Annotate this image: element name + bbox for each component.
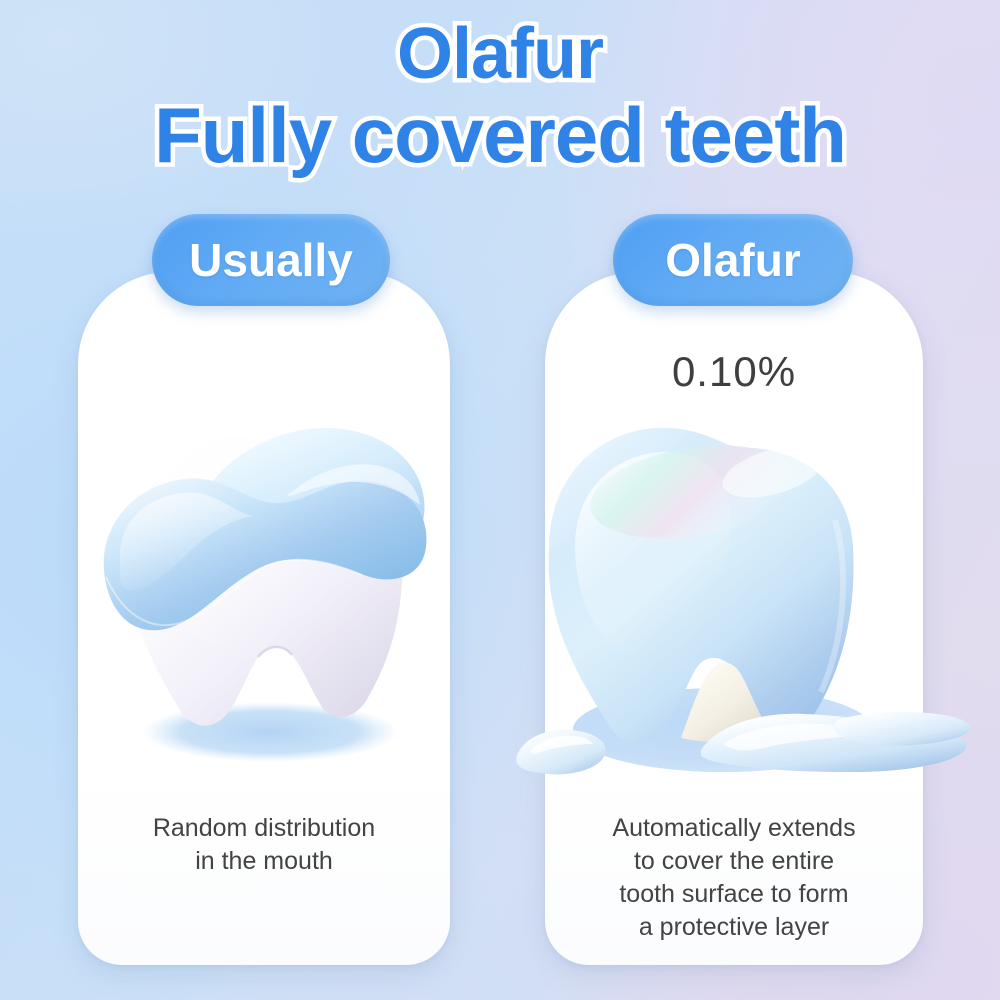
caption-usually: Random distribution in the mouth [78, 812, 450, 878]
badge-olafur-label: Olafur [665, 233, 800, 287]
caption-olafur-line-1: Automatically extends [545, 812, 923, 845]
poster-canvas: Olafur Fully covered teeth [0, 0, 1000, 1000]
caption-usually-line-1: Random distribution [78, 812, 450, 845]
caption-usually-line-2: in the mouth [78, 845, 450, 878]
caption-olafur-line-3: tooth surface to form [545, 878, 923, 911]
badge-usually[interactable]: Usually [152, 214, 390, 306]
caption-olafur-line-4: a protective layer [545, 911, 923, 944]
caption-olafur-line-2: to cover the entire [545, 845, 923, 878]
concentration-value: 0.10% [545, 348, 923, 396]
badge-olafur[interactable]: Olafur [613, 214, 853, 306]
badge-usually-label: Usually [189, 233, 353, 287]
caption-olafur: Automatically extends to cover the entir… [545, 812, 923, 944]
